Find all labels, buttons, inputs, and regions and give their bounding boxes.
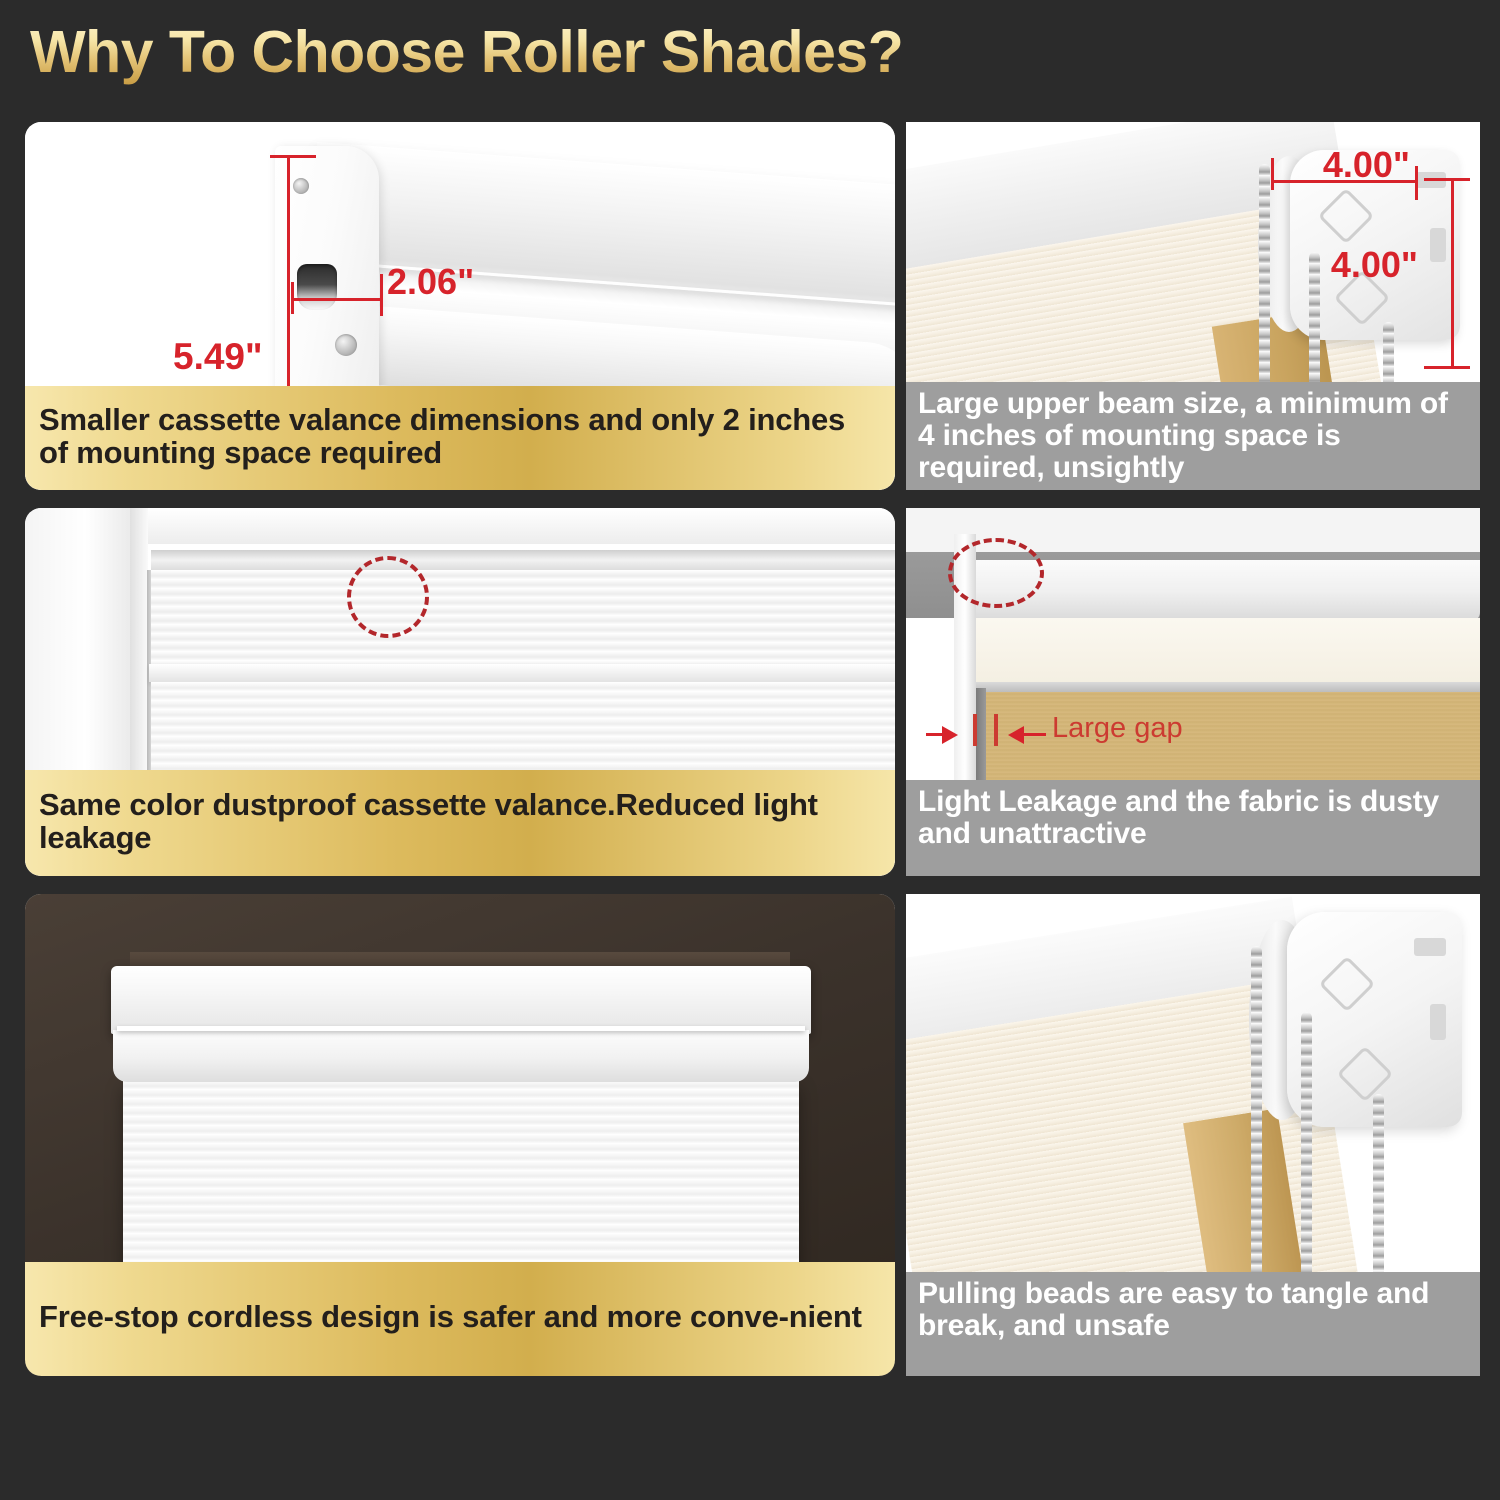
panel-pro-cassette-dimensions: 5.49" 2.06" Smaller cassette valance dim… (25, 122, 895, 490)
caption-text: Free-stop cordless design is safer and m… (39, 1300, 862, 1333)
screw-icon (293, 178, 309, 194)
width-dimension-line (291, 298, 383, 301)
height-dimension-tick-top (270, 155, 316, 158)
roller-tube-shape (113, 1030, 809, 1082)
panel-pro-dustproof-valance: smaller gap Same color dustproof cassett… (25, 508, 895, 876)
valance-shape (972, 618, 1480, 684)
caption-bar-con-pulling-beads: Pulling beads are easy to tangle and bre… (906, 1272, 1480, 1376)
panel-con-large-beam: 4.00" 4.00" Large upper beam size, a min… (906, 122, 1480, 490)
bead-chain (1309, 252, 1320, 402)
bracket-arrow-icon (1318, 188, 1375, 245)
bead-chain (1259, 164, 1270, 402)
panel-pro-cordless-design: Free-stop cordless design is safer and m… (25, 894, 895, 1376)
width-dimension-tick-left (1271, 158, 1274, 190)
height-dimension-tick-top (1424, 178, 1470, 181)
caption-text: Large upper beam size, a minimum of 4 in… (918, 386, 1470, 484)
panel-con-light-leakage: Large gap Light Leakage and the fabric i… (906, 508, 1480, 876)
caption-bar-pro-cordless-design: Free-stop cordless design is safer and m… (25, 1262, 895, 1376)
width-dimension-tick-right (380, 274, 383, 316)
caption-text: Smaller cassette valance dimensions and … (39, 403, 881, 469)
highlight-circle-icon (948, 538, 1044, 608)
width-dimension-label: 4.00" (1323, 144, 1410, 186)
shade-fabric-upper (151, 570, 895, 666)
width-dimension-tick-left (291, 282, 294, 314)
bracket-arrow-icon (1337, 1046, 1394, 1103)
roller-tube-shape (972, 560, 1480, 622)
valance-highlight-line (117, 1026, 805, 1031)
bracket-notch (1430, 228, 1446, 262)
caption-bar-con-light-leakage: Light Leakage and the fabric is dusty an… (906, 780, 1480, 876)
bracket-notch (1430, 1004, 1446, 1040)
caption-text: Light Leakage and the fabric is dusty an… (918, 784, 1470, 850)
gap-callout-label: Large gap (1052, 712, 1183, 745)
height-dimension-line (1451, 178, 1454, 368)
gap-arrow-left-icon (1008, 726, 1024, 744)
caption-bar-pro-dustproof-valance: Same color dustproof cassette valance.Re… (25, 770, 895, 876)
screw-icon (335, 334, 357, 356)
cassette-valance-shape (151, 550, 895, 572)
bracket-notch (1414, 938, 1446, 956)
gap-arrow-stem (1022, 733, 1046, 736)
height-dimension-tick-bottom (1424, 366, 1470, 369)
caption-bar-con-large-beam: Large upper beam size, a minimum of 4 in… (906, 382, 1480, 490)
caption-text: Pulling beads are easy to tangle and bre… (918, 1276, 1470, 1342)
gap-tick-right (994, 714, 998, 746)
window-header-shape (130, 508, 895, 544)
height-dimension-label: 5.49" (173, 336, 263, 378)
caption-bar-pro-cassette-dimensions: Smaller cassette valance dimensions and … (25, 386, 895, 490)
page-title: Why To Choose Roller Shades? (30, 18, 903, 86)
height-dimension-label: 4.00" (1331, 244, 1418, 286)
panel-con-pulling-beads: Pulling beads are easy to tangle and bre… (906, 894, 1480, 1376)
caption-text: Same color dustproof cassette valance.Re… (39, 788, 881, 854)
width-dimension-tick-right (1415, 166, 1418, 200)
gap-tick-left (973, 714, 977, 746)
cassette-valance-shape (111, 966, 811, 1034)
highlight-circle-icon (347, 556, 429, 638)
bracket-arrow-icon (1319, 956, 1376, 1013)
width-dimension-label: 2.06" (387, 261, 474, 303)
mid-rail-shape (149, 664, 895, 682)
gap-arrow-right-icon (942, 726, 958, 744)
cord-slot-shape (297, 264, 337, 310)
valance-edge-shape (972, 682, 1480, 692)
